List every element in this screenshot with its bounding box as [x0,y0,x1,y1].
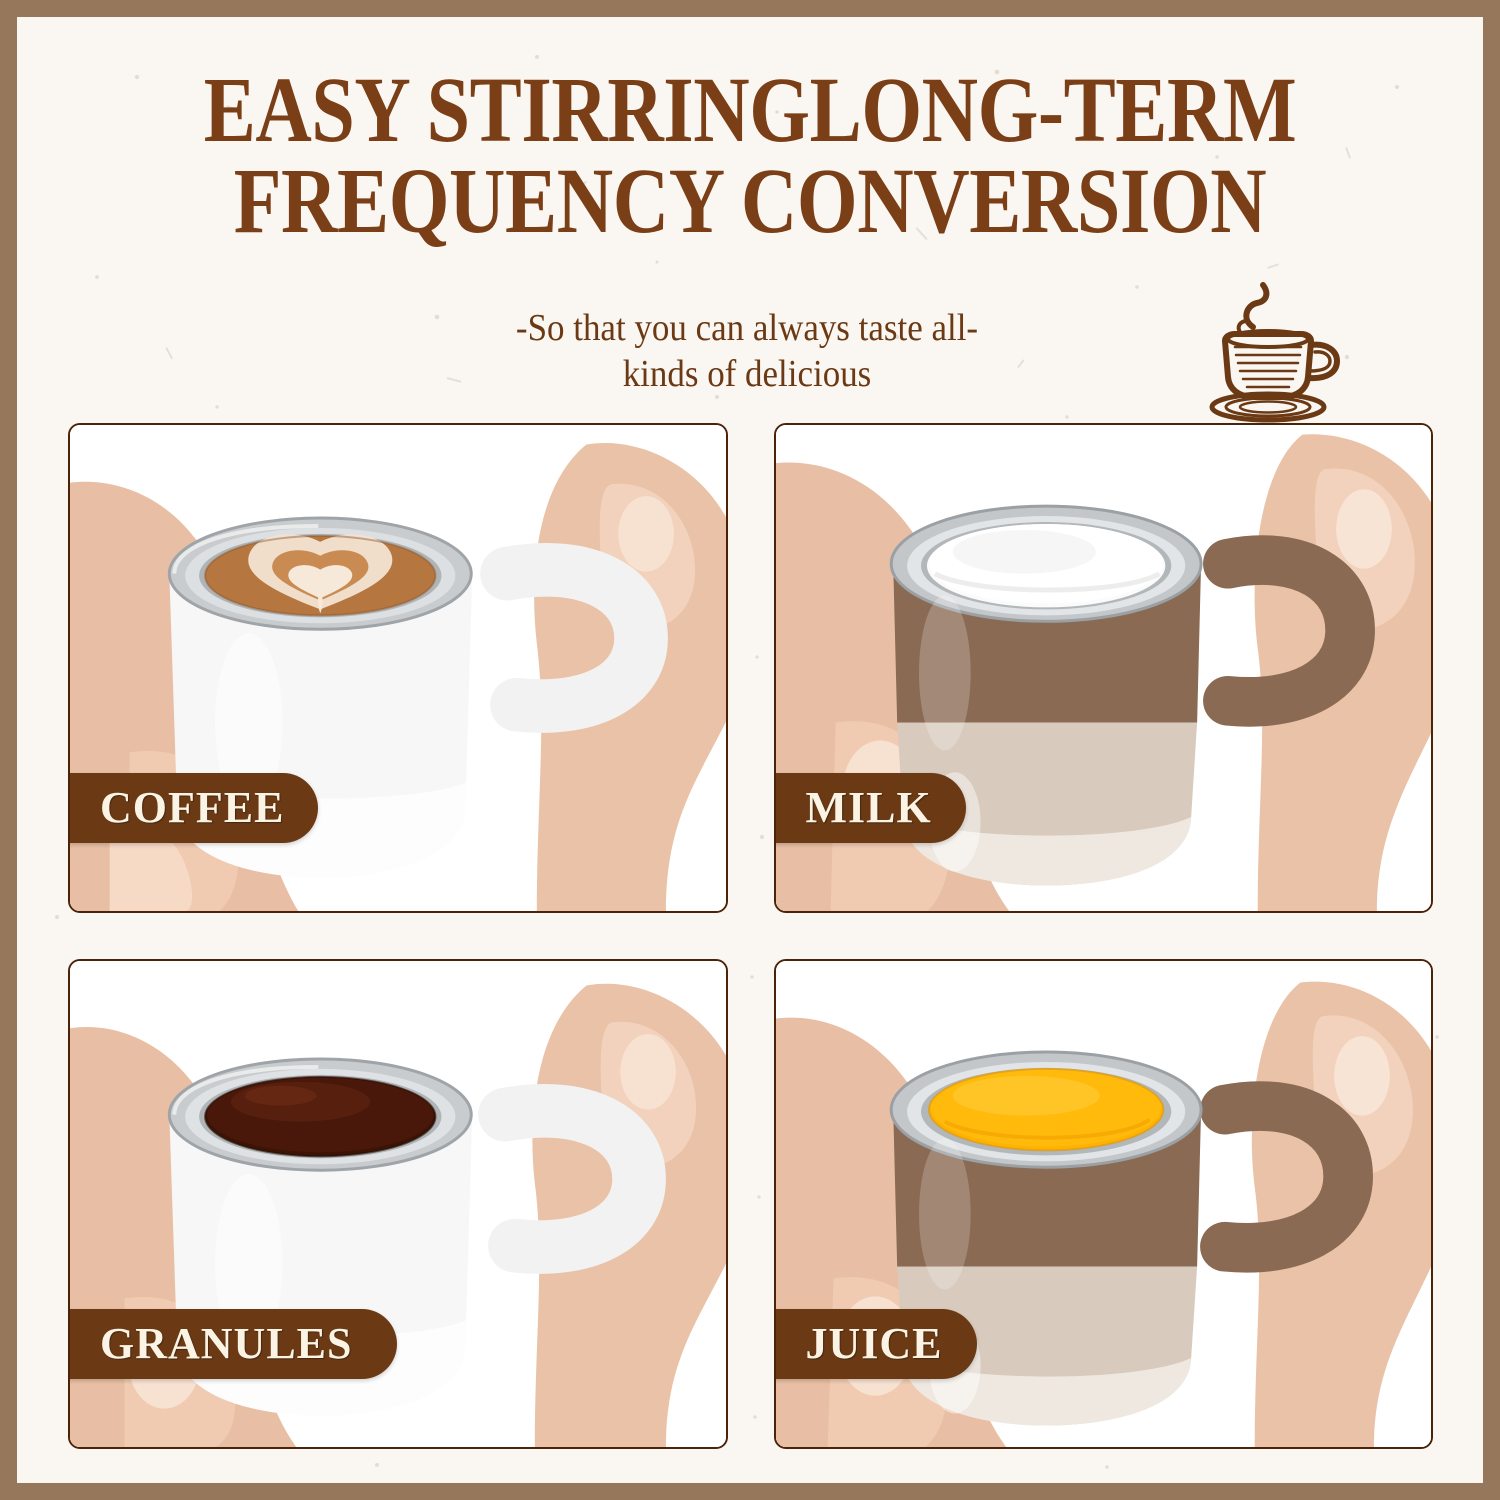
badge-label-juice: JUICE [806,1322,943,1366]
coffee-cup-icon [1195,279,1355,429]
poster-subtitle: -So that you can always taste all- kinds… [351,305,1142,398]
badge-granules: GRANULES [68,1309,397,1379]
headline-line-1: EASY STIRRINGLONG-TERM [134,65,1365,156]
badge-label-coffee: COFFEE [100,786,284,830]
headline-line-2: FREQUENCY CONVERSION [134,156,1365,247]
poster-headline: EASY STIRRINGLONG-TERM FREQUENCY CONVERS… [134,65,1365,247]
panel-coffee[interactable]: COFFEE [68,423,728,913]
badge-label-milk: MILK [806,786,932,830]
panel-granules[interactable]: GRANULES [68,959,728,1449]
badge-juice: JUICE [774,1309,977,1379]
product-panel-grid: COFFEE [68,423,1433,1449]
product-poster: EASY STIRRINGLONG-TERM FREQUENCY CONVERS… [0,0,1500,1500]
badge-milk: MILK [774,773,966,843]
badge-label-granules: GRANULES [100,1322,353,1366]
panel-juice[interactable]: JUICE [774,959,1434,1449]
panel-milk[interactable]: MILK [774,423,1434,913]
subtitle-line-2: kinds of delicious [351,351,1142,397]
poster-interior: EASY STIRRINGLONG-TERM FREQUENCY CONVERS… [17,17,1483,1483]
subtitle-line-1: -So that you can always taste all- [351,305,1142,351]
badge-coffee: COFFEE [68,773,318,843]
